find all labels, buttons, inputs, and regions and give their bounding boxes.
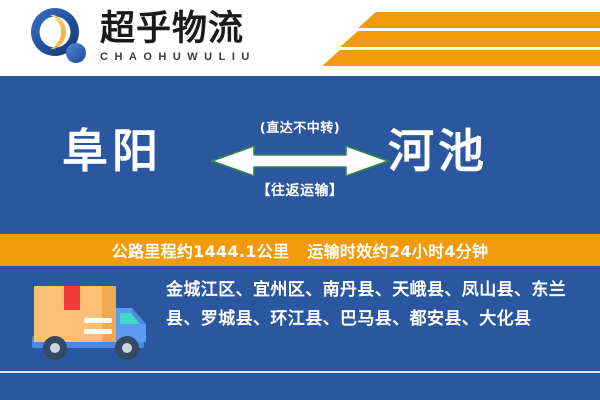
destination-city: 河池 <box>388 128 488 174</box>
route-note-roundtrip: 【往返运输】 <box>205 184 395 198</box>
duration-text: 运输时效约24小时4分钟 <box>307 238 488 262</box>
route-info-bar: 公路里程约1444.1公里 运输时效约24小时4分钟 <box>0 234 600 266</box>
route-note-direct: (直达不中转) <box>205 122 395 135</box>
brand-name-block: 超乎物流 CHAOHUWULIU <box>100 11 256 63</box>
route-indicator: (直达不中转) 【往返运输】 <box>205 122 395 214</box>
coverage-area-list: 金城江区、宜州区、南丹县、天峨县、凤山县、东兰县、罗城县、环江县、巴马县、都安县… <box>166 276 586 334</box>
coverage-panel: 金城江区、宜州区、南丹县、天峨县、凤山县、东兰县、罗城县、环江县、巴马县、都安县… <box>0 266 600 400</box>
banner-header: 超乎物流 CHAOHUWULIU <box>0 0 600 76</box>
distance-text: 公路里程约1444.1公里 <box>112 238 290 262</box>
circle-q-logo-icon <box>28 6 90 68</box>
logistics-route-banner: 超乎物流 CHAOHUWULIU 阜阳 河池 (直达不中转) 【往返运输】 公路… <box>0 0 600 400</box>
brand-name-en: CHAOHUWULIU <box>100 51 256 63</box>
coverage-line-2: 、罗城县、环江县、巴马县、都安县、大化县 <box>183 309 531 329</box>
road-line <box>0 371 600 373</box>
brand-logo-group: 超乎物流 CHAOHUWULIU <box>28 6 256 68</box>
brand-name-cn: 超乎物流 <box>100 11 256 48</box>
delivery-truck-icon <box>28 280 156 366</box>
origin-city: 阜阳 <box>62 128 162 174</box>
double-arrow-icon <box>205 142 395 180</box>
speed-stripes-icon <box>310 8 600 70</box>
